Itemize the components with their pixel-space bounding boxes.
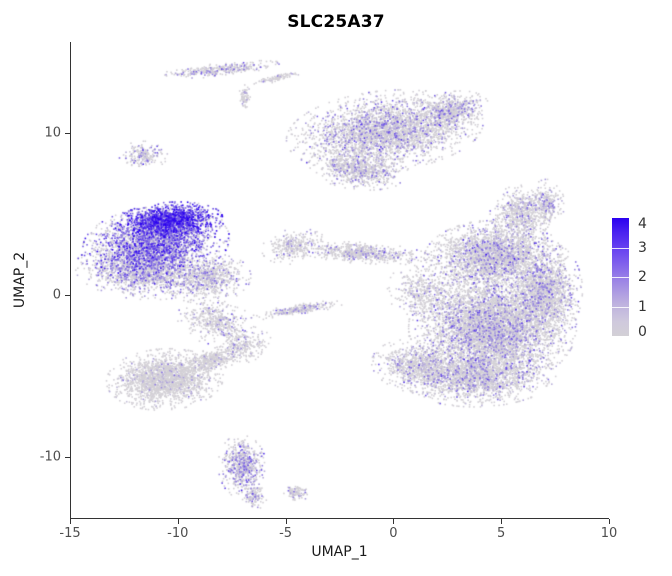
y-tick-label: 10 [44, 125, 61, 140]
y-tick-mark [65, 295, 70, 296]
umap-feature-plot: SLC25A37 -15-10-50510 -10010 UMAP_1 UMAP… [0, 0, 672, 576]
x-axis-line [70, 518, 609, 519]
x-tick-label: 10 [601, 526, 618, 541]
x-tick-label: 5 [497, 526, 505, 541]
x-axis-title: UMAP_1 [70, 544, 609, 560]
y-axis-line [70, 42, 71, 519]
colorbar-tick-label: 2 [638, 269, 647, 285]
x-tick-label: -15 [59, 526, 80, 541]
x-tick-mark [70, 519, 71, 524]
colorbar-tick-label: 0 [638, 324, 647, 340]
x-tick-mark [501, 519, 502, 524]
y-tick-mark [65, 133, 70, 134]
x-tick-label: -5 [279, 526, 292, 541]
y-tick-mark [65, 457, 70, 458]
colorbar-tick-label: 1 [638, 299, 647, 315]
x-tick-mark [286, 519, 287, 524]
scatter-plot-canvas [70, 42, 609, 519]
colorbar-tick-mark [612, 307, 629, 308]
x-tick-mark [178, 519, 179, 524]
colorbar-tick-mark [612, 277, 629, 278]
colorbar-tick-label: 3 [638, 240, 647, 256]
y-axis-title: UMAP_2 [12, 252, 28, 308]
x-tick-mark [393, 519, 394, 524]
colorbar-tick-label: 4 [638, 216, 647, 232]
page-title: SLC25A37 [0, 12, 672, 32]
y-tick-label: 0 [53, 288, 61, 303]
expression-colorbar: 43210 [612, 218, 672, 338]
x-tick-label: -10 [167, 526, 188, 541]
x-tick-label: 0 [389, 526, 397, 541]
x-tick-mark [609, 519, 610, 524]
y-tick-label: -10 [40, 450, 61, 465]
colorbar-tick-mark [612, 248, 629, 249]
